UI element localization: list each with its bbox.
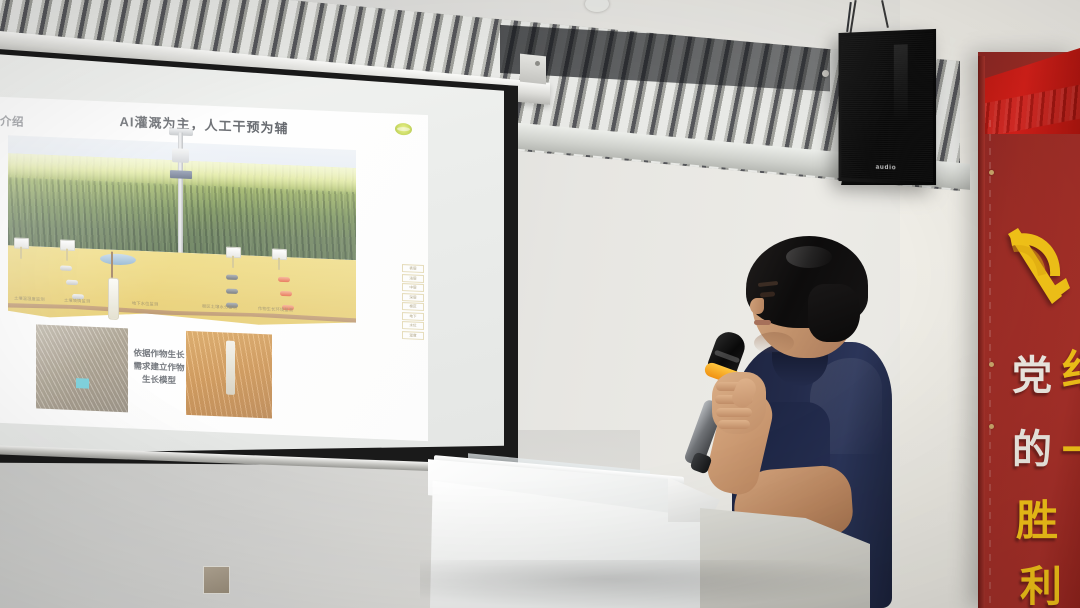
photo-vignette bbox=[0, 0, 1080, 608]
presentation-room-photo: 产品介绍 AI灌溉为主，人工干预为辅 bbox=[0, 0, 1080, 608]
